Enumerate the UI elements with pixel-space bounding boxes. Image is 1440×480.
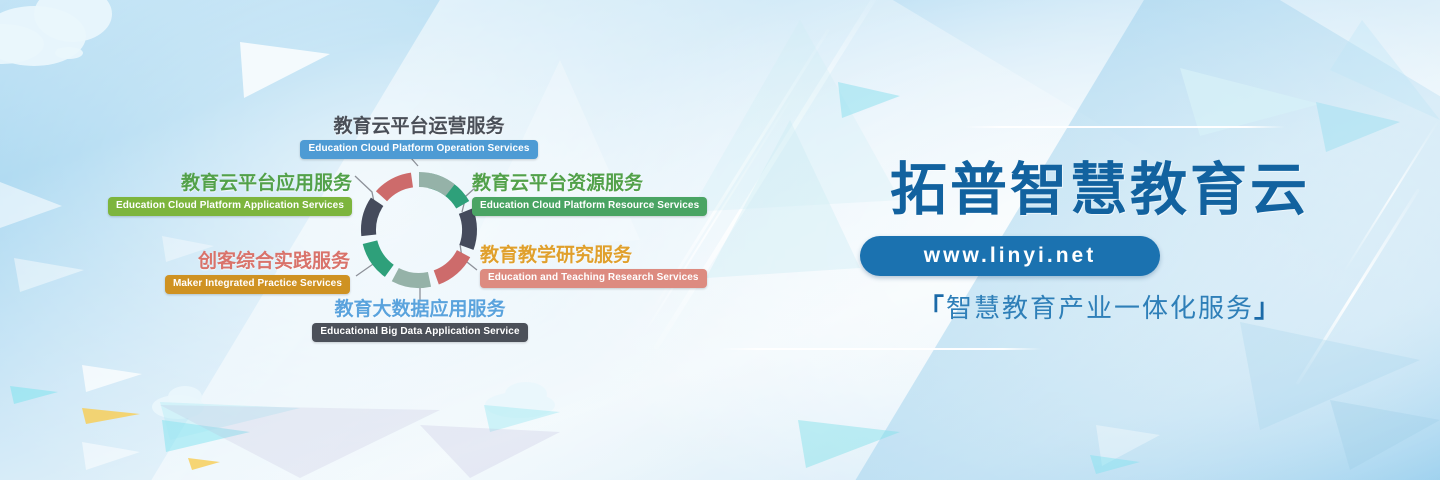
node-bigdata-cn-label: 教育大数据应用服务: [292, 298, 548, 321]
tagline-text: 智慧教育产业一体化服务: [946, 293, 1254, 323]
node-resource-en-badge: Education Cloud Platform Resource Servic…: [472, 197, 707, 216]
node-research-en-badge: Education and Teaching Research Services: [480, 269, 707, 288]
brand-tagline: 「智慧教育产业一体化服务」: [760, 291, 1440, 325]
segment-right-lower: [392, 268, 431, 288]
segment-bottom-right: [363, 240, 394, 277]
segment-left-lower: [376, 173, 413, 202]
node-bigdata-en-badge: Educational Big Data Application Service: [312, 323, 527, 342]
node-research-cn-label: 教育教学研究服务: [480, 244, 730, 267]
node-application-en-badge: Education Cloud Platform Application Ser…: [108, 197, 352, 216]
tagline-close-bracket: 」: [1254, 293, 1282, 323]
node-maker-en-badge: Maker Integrated Practice Services: [165, 275, 350, 294]
node-resource-cn-label: 教育云平台资源服务: [472, 172, 724, 195]
segment-right-upper: [434, 250, 471, 284]
node-operation-en-badge: Education Cloud Platform Operation Servi…: [300, 140, 537, 159]
tagline-open-bracket: 「: [918, 293, 946, 323]
brand-panel: 拓普智慧教育云 www.linyi.net 「智慧教育产业一体化服务」: [760, 0, 1440, 480]
connector-lines: [0, 0, 700, 480]
node-research[interactable]: 教育教学研究服务 Education and Teaching Research…: [480, 244, 730, 288]
node-operation-cn-label: 教育云平台运营服务: [286, 115, 552, 138]
donut-ring-chart: [355, 166, 483, 294]
brand-title: 拓普智慧教育云: [760, 160, 1440, 222]
promo-banner: 教育云平台运营服务 Education Cloud Platform Opera…: [0, 0, 1440, 480]
services-wheel-diagram: 教育云平台运营服务 Education Cloud Platform Opera…: [0, 0, 700, 480]
node-application-cn-label: 教育云平台应用服务: [100, 172, 352, 195]
node-operation[interactable]: 教育云平台运营服务 Education Cloud Platform Opera…: [286, 115, 552, 159]
node-maker[interactable]: 创客综合实践服务 Maker Integrated Practice Servi…: [110, 250, 350, 294]
node-application[interactable]: 教育云平台应用服务 Education Cloud Platform Appli…: [100, 172, 352, 216]
node-maker-cn-label: 创客综合实践服务: [110, 250, 350, 273]
website-url-text: www.linyi.net: [924, 244, 1096, 268]
segment-bottom-left: [361, 198, 383, 236]
website-url-pill[interactable]: www.linyi.net: [860, 236, 1160, 276]
node-resource[interactable]: 教育云平台资源服务 Education Cloud Platform Resou…: [472, 172, 724, 216]
node-bigdata[interactable]: 教育大数据应用服务 Educational Big Data Applicati…: [292, 298, 548, 342]
